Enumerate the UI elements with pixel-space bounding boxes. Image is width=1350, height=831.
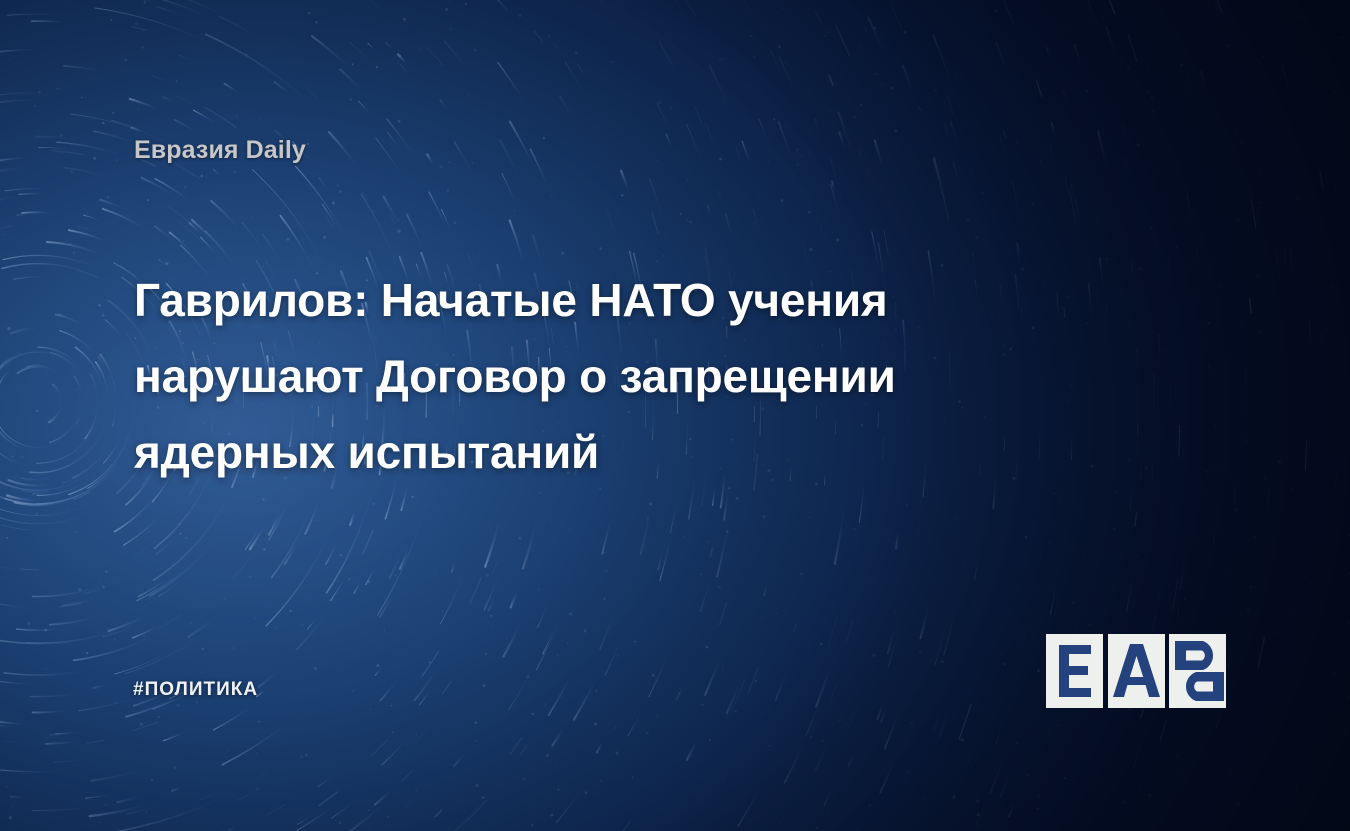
logo-letter-a-icon (1108, 632, 1165, 710)
site-name: Евразия Daily (134, 136, 306, 165)
article-headline: Гаврилов: Начатые НАТО учения нарушают Д… (134, 262, 1049, 490)
logo-letter-e-icon (1046, 632, 1103, 710)
category-tag: #ПОЛИТИКА (133, 679, 258, 701)
news-share-card: Евразия Daily Гаврилов: Начатые НАТО уче… (0, 0, 1350, 831)
logo-letter-d-icon (1169, 632, 1231, 710)
eadaily-logo (1046, 632, 1226, 710)
